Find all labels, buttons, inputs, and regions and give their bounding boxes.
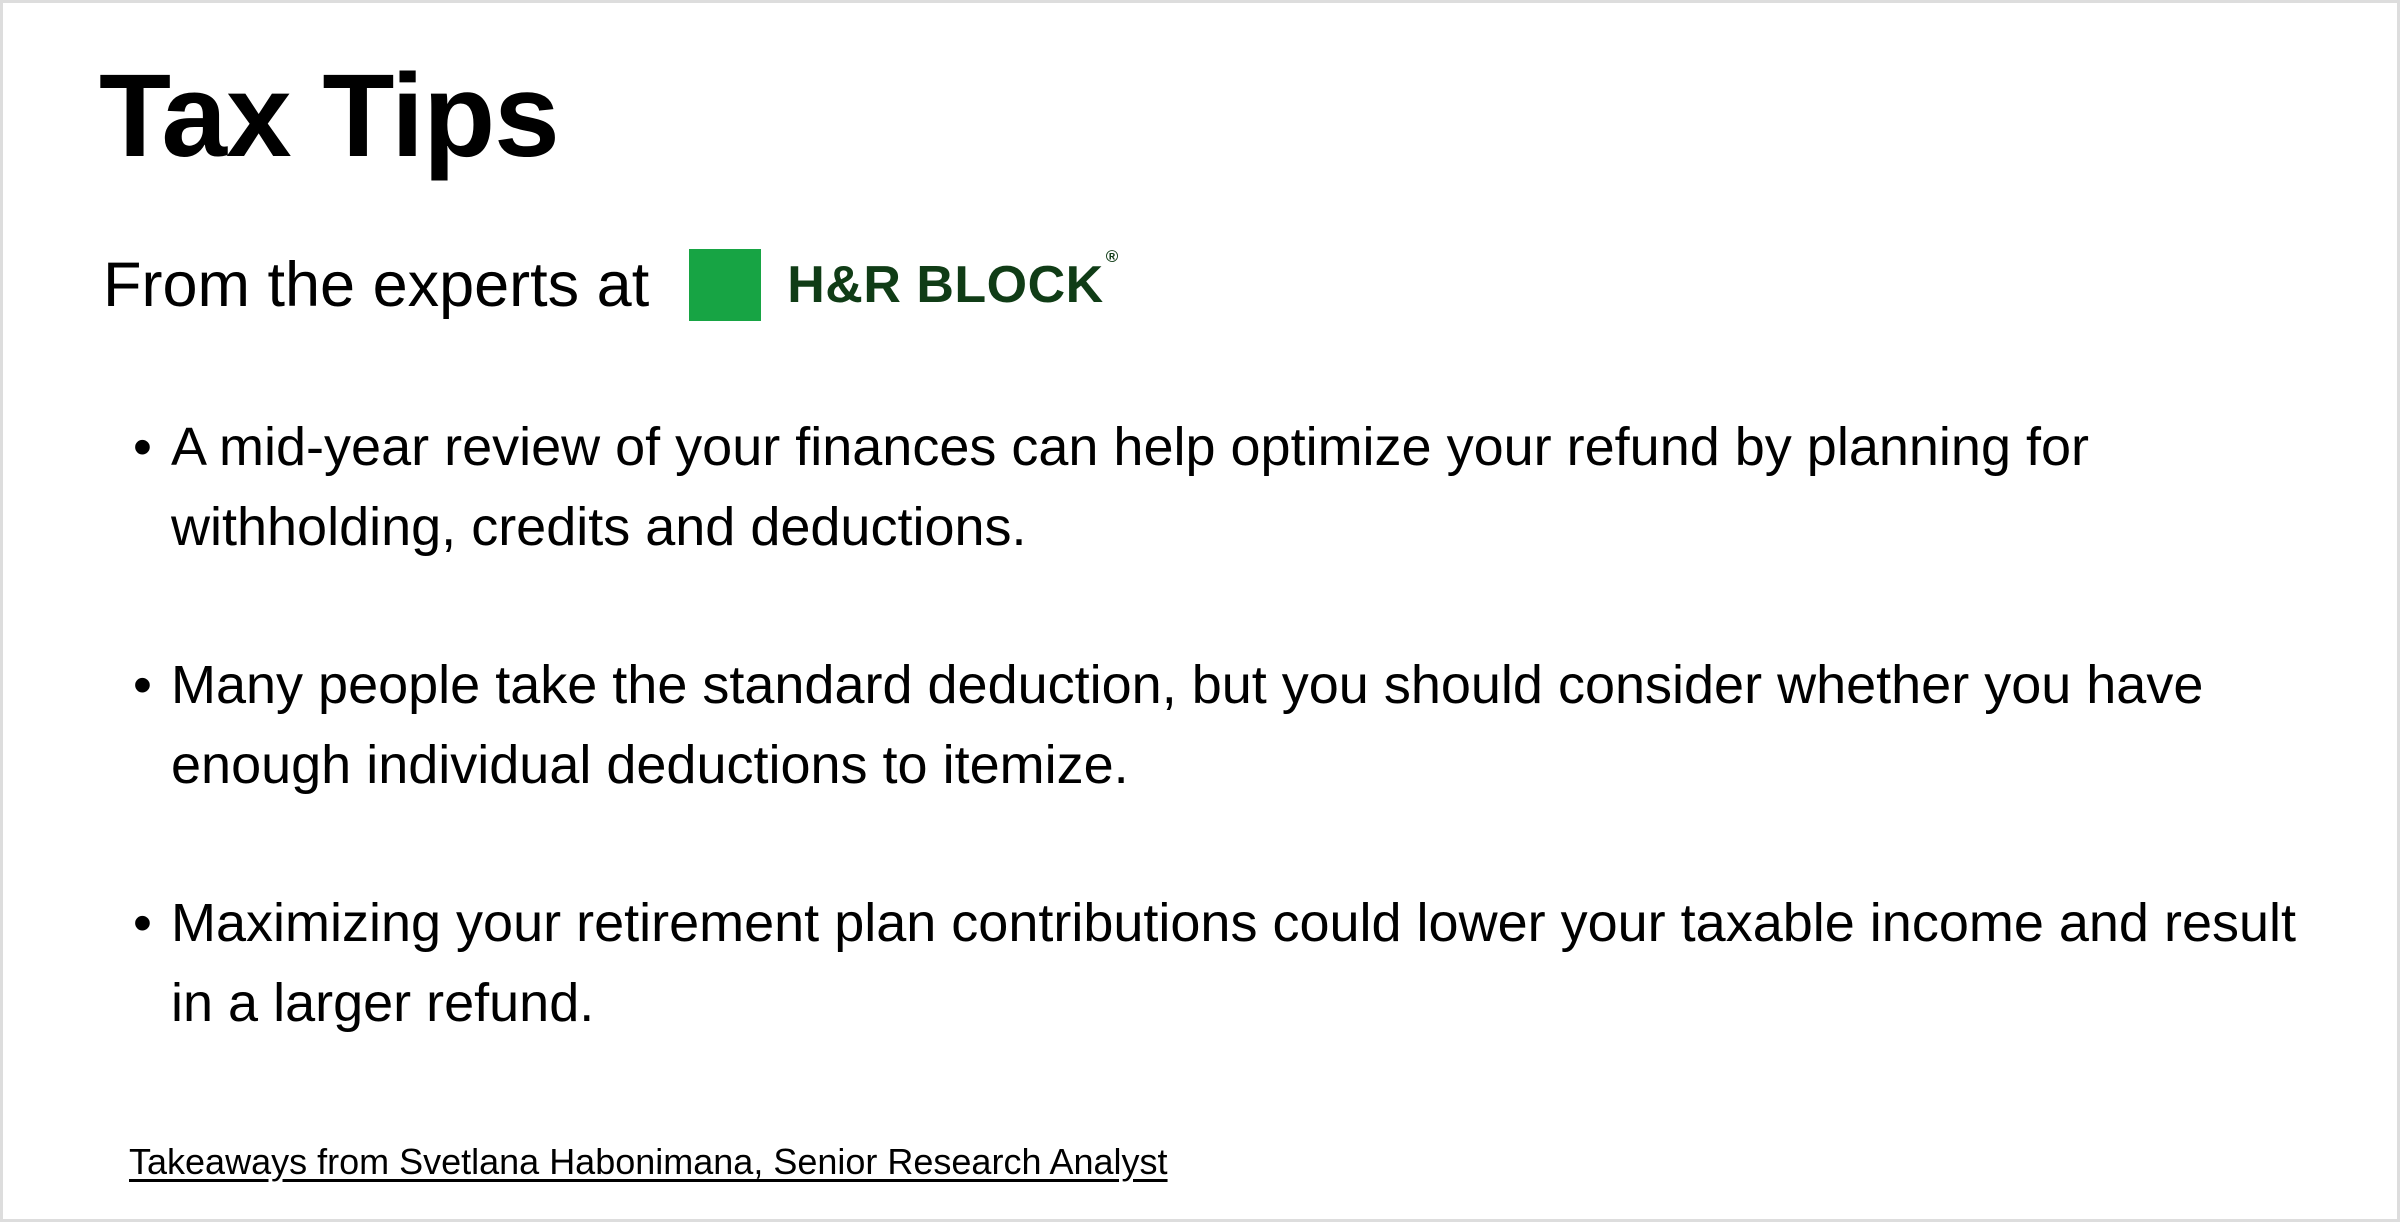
subtitle-row: From the experts at H&R BLOCK® [103, 241, 1117, 329]
credit-line: Takeaways from Svetlana Habonimana, Seni… [129, 1141, 1168, 1183]
page-title: Tax Tips [99, 55, 559, 179]
bullet-text: A mid-year review of your finances can h… [171, 407, 2301, 567]
bullet-marker-icon: • [133, 645, 171, 725]
hr-block-green-square-icon [689, 249, 761, 321]
subtitle-text: From the experts at [103, 254, 649, 317]
bullet-marker-icon: • [133, 407, 171, 487]
bullet-marker-icon: • [133, 883, 171, 963]
list-item: • A mid-year review of your finances can… [133, 407, 2333, 567]
slide-canvas: Tax Tips From the experts at H&R BLOCK® … [0, 0, 2400, 1222]
bullet-text: Maximizing your retirement plan contribu… [171, 883, 2301, 1043]
hr-block-wordmark-text: H&R BLOCK [787, 256, 1103, 314]
bullet-text: Many people take the standard deduction,… [171, 645, 2301, 805]
bullet-list: • A mid-year review of your finances can… [133, 407, 2333, 1043]
list-item: • Maximizing your retirement plan contri… [133, 883, 2333, 1043]
registered-trademark-icon: ® [1106, 247, 1119, 266]
hr-block-logo: H&R BLOCK® [689, 249, 1117, 321]
list-item: • Many people take the standard deductio… [133, 645, 2333, 805]
hr-block-wordmark: H&R BLOCK® [787, 259, 1117, 311]
